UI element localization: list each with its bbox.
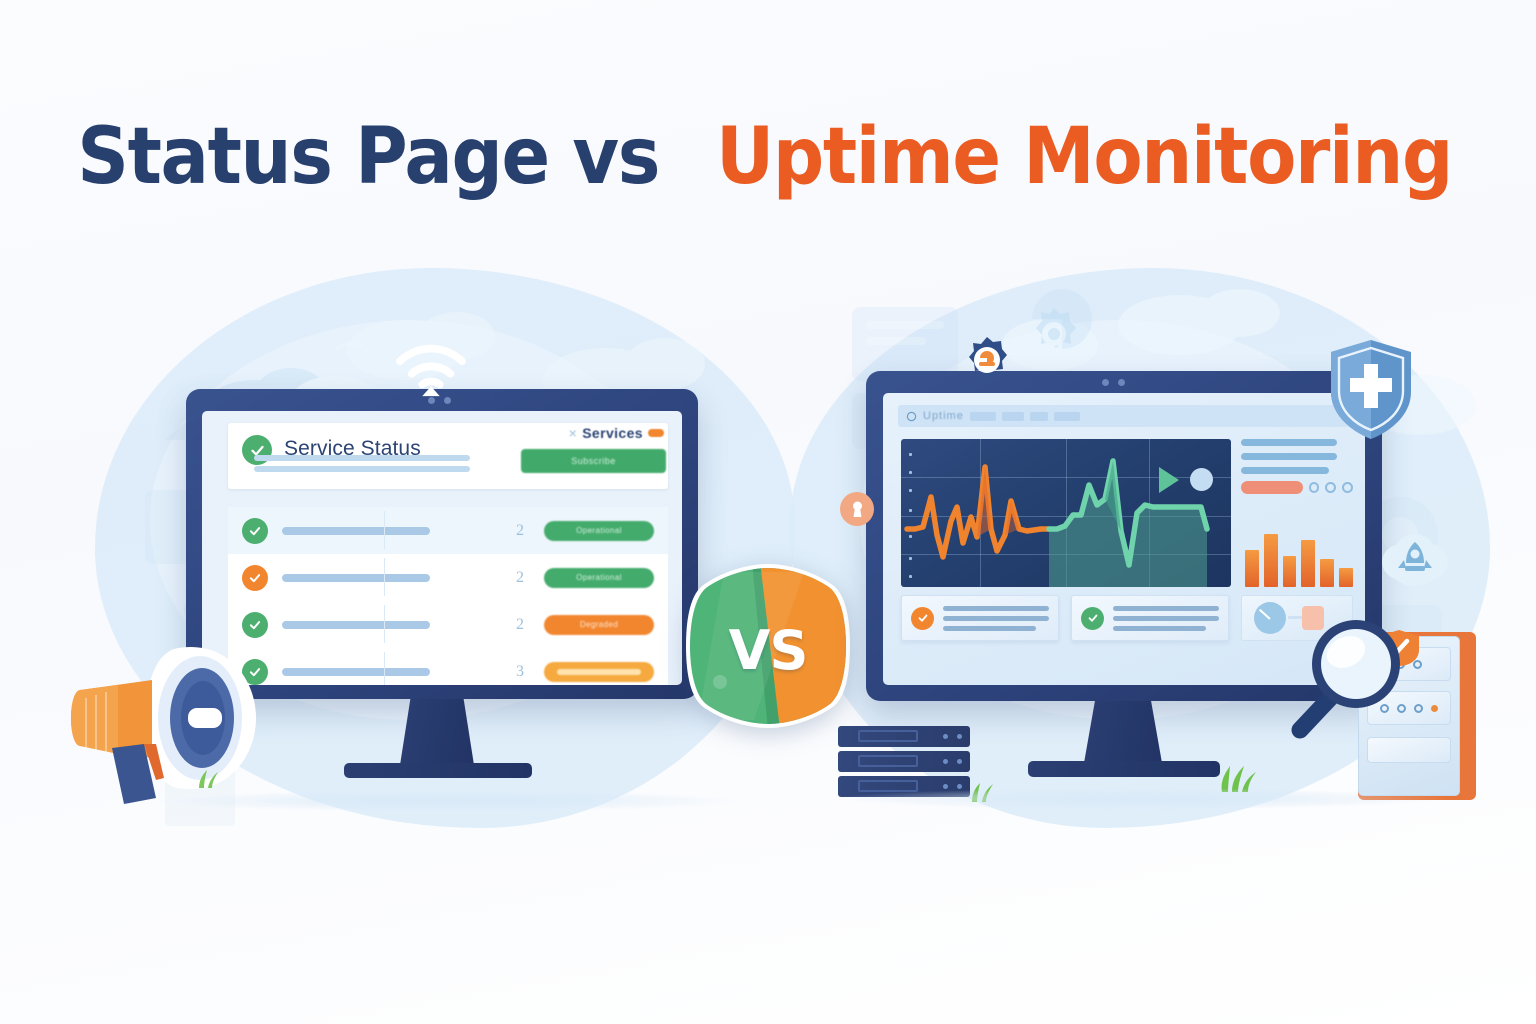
ground-shadow-right — [830, 788, 1450, 810]
ground-shadow-left — [150, 790, 750, 812]
cloud-rocket-icon — [1378, 528, 1452, 592]
title-part-one: Status Page vs — [77, 118, 659, 196]
row-count: 2 — [516, 569, 524, 587]
play-triangle-icon — [1159, 467, 1179, 493]
gear-settings-icon — [962, 335, 1012, 385]
illustration-canvas: Status Page vs Uptime Monitoring — [0, 0, 1536, 1024]
monitor-camera-dot-b — [1118, 379, 1125, 386]
status-badge: Operational — [544, 521, 654, 541]
check-circle-green-icon — [242, 518, 268, 544]
dashboard-topbar-label: Uptime — [923, 410, 964, 422]
monitor-camera-dot-b — [444, 397, 451, 404]
decorative-gear-icon — [1026, 306, 1082, 362]
check-circle-orange-icon — [242, 565, 268, 591]
lock-keyhole-icon — [840, 492, 874, 526]
status-badge: Degraded — [544, 615, 654, 635]
uptime-response-chart — [901, 439, 1231, 587]
monitor-stand-foot-left — [344, 763, 532, 778]
monitor-camera-dot-a — [1102, 379, 1109, 386]
row-count: 2 — [516, 616, 524, 634]
alert-pill — [1241, 481, 1303, 494]
service-logo-accent — [648, 429, 664, 437]
check-circle-orange-icon — [911, 607, 934, 630]
grass-decoration — [195, 766, 229, 788]
magnifying-glass-icon — [1290, 612, 1410, 740]
server-unit — [838, 751, 970, 772]
title-part-two: Uptime Monitoring — [716, 118, 1452, 196]
chart-series — [901, 439, 1231, 587]
row-count: 2 — [516, 522, 524, 540]
dashboard-topbar: Uptime — [898, 405, 1350, 427]
page-title: Status Page vs Uptime Monitoring — [0, 118, 1536, 196]
status-dot-icon — [1190, 468, 1213, 491]
versus-badge: VS — [684, 562, 852, 730]
request-volume-bars — [1245, 525, 1353, 587]
health-shield-icon — [1327, 338, 1415, 442]
monitor-stand-neck-right — [1084, 701, 1162, 763]
service-logo-text: Services — [582, 425, 643, 441]
status-card[interactable] — [901, 595, 1059, 641]
wifi-signal-icon — [392, 336, 470, 398]
table-row[interactable]: 2 Operational — [228, 507, 668, 554]
dashboard-side-panel — [1241, 439, 1353, 587]
subscribe-button[interactable]: Subscribe — [521, 449, 666, 473]
ring-icon — [1342, 482, 1353, 493]
gauge-icon — [1254, 602, 1286, 634]
check-circle-green-icon — [1081, 607, 1104, 630]
monitor-camera-dot-a — [428, 397, 435, 404]
ring-icon — [1325, 482, 1336, 493]
versus-label: VS — [684, 566, 852, 734]
table-row[interactable]: 2 Operational — [228, 554, 668, 601]
service-logo: × Services — [569, 425, 664, 441]
server-unit — [838, 726, 970, 747]
monitor-stand-foot-right — [1028, 761, 1220, 777]
ring-icon — [1309, 482, 1320, 493]
service-status-subtext-lines — [254, 455, 470, 477]
megaphone-icon — [60, 628, 310, 813]
monitor-stand-neck-left — [400, 699, 474, 765]
row-count: 3 — [516, 663, 524, 681]
circle-icon — [906, 411, 917, 422]
status-card[interactable] — [1071, 595, 1229, 641]
status-badge-progress — [544, 662, 654, 682]
status-badge: Operational — [544, 568, 654, 588]
